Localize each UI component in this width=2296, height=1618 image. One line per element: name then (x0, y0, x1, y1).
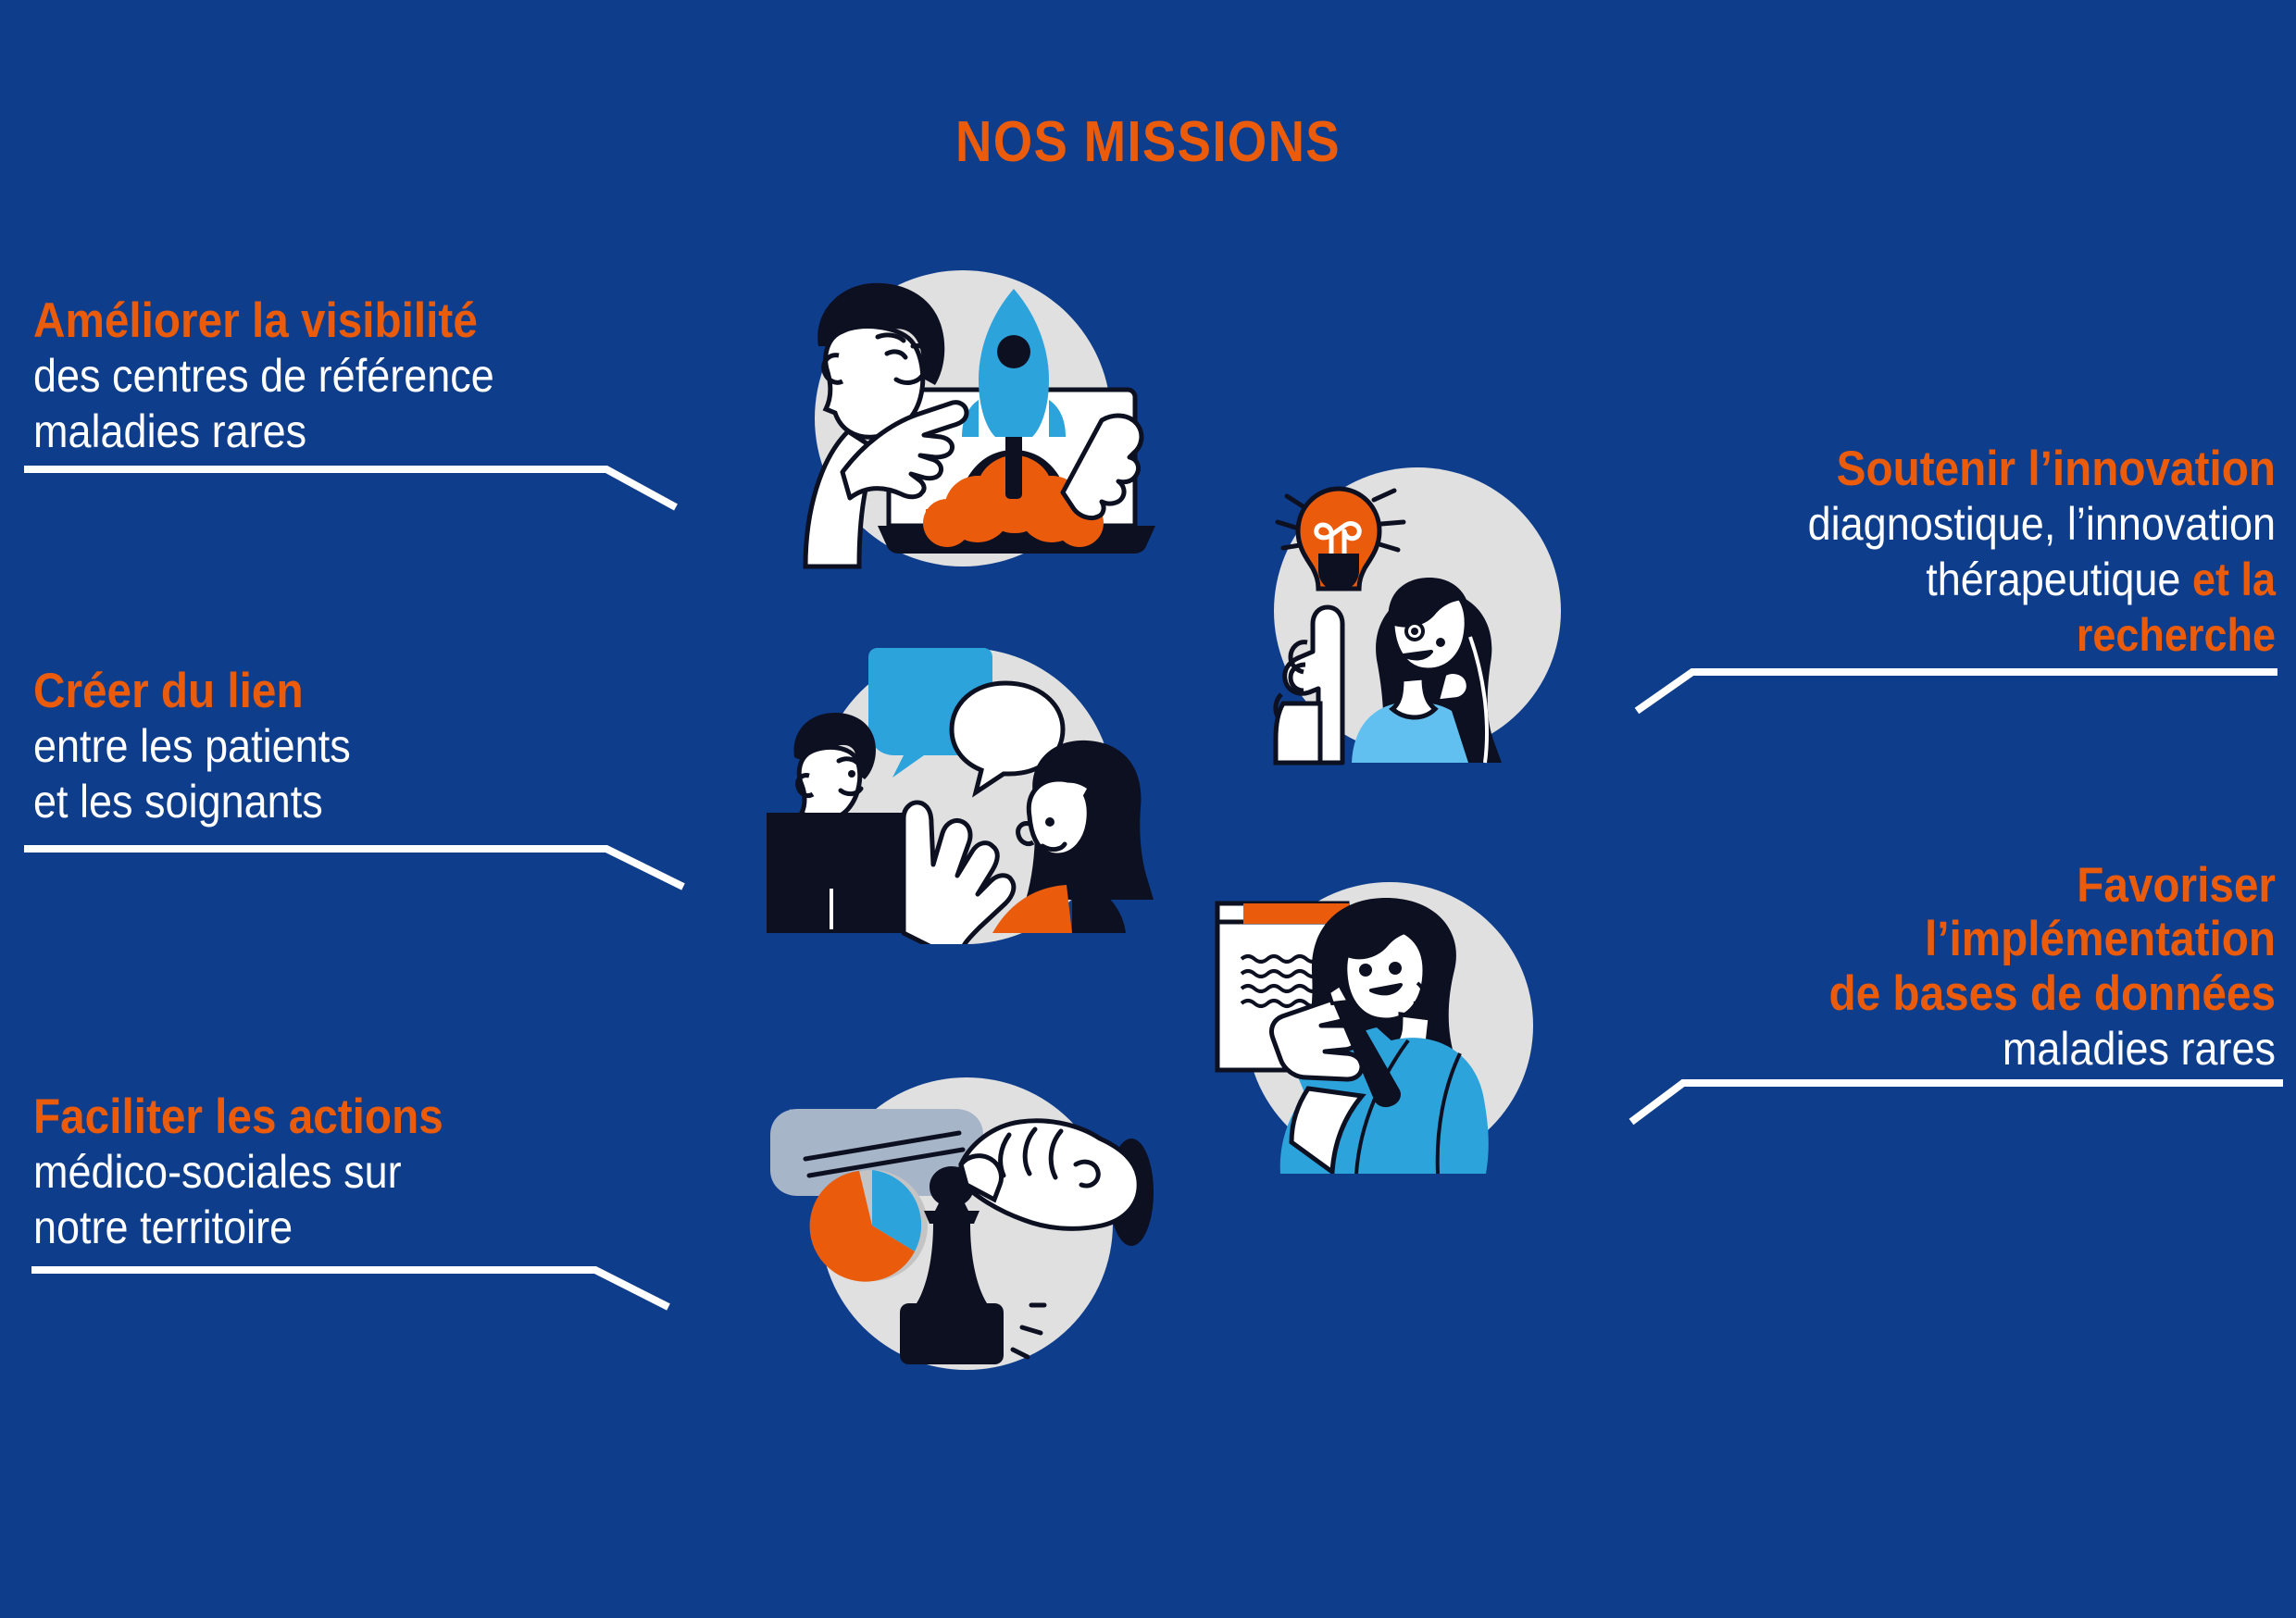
mission-block-visibilite: Améliorer la visibilité des centres de r… (33, 294, 700, 459)
mission-sub2-innovation: thérapeutique et la (1559, 552, 2276, 607)
mission-sub1-actions: médico-sociales sur (33, 1144, 633, 1200)
mission-title-actions: Faciliter les actions (33, 1090, 633, 1144)
mission-sub1-innovation: diagnostique, l’innovation (1559, 496, 2276, 552)
mission-title1-donnees: Favoriser (1542, 859, 2276, 913)
woman-writing-on-notepad-illustration (1190, 859, 1578, 1174)
mission-sub2-lien: et les soignants (33, 774, 633, 829)
connector-actions (31, 1270, 668, 1307)
connector-lien (24, 849, 683, 887)
connector-innovation (1637, 672, 2277, 711)
mission-block-donnees: Favoriser l’implémentation de bases de d… (1461, 859, 2276, 1077)
person-pointing-at-laptop-with-rocket-illustration (757, 261, 1165, 585)
mission-block-actions: Faciliter les actions médico-sociales su… (33, 1090, 700, 1255)
infographic-canvas: NOS MISSIONS Améliorer la visibilité des… (0, 0, 2296, 1618)
woman-pointing-at-lightbulb-illustration (1239, 452, 1563, 771)
mission-sub3-highlight-innovation: recherche (2077, 609, 2276, 661)
mission-sub1-visibilite: des centres de référence (33, 348, 633, 404)
mission-title3-donnees: de bases de données (1542, 967, 2276, 1021)
mission-sub2-highlight-innovation: et la (2192, 554, 2276, 605)
two-people-talking-speech-bubbles-illustration (767, 648, 1165, 944)
mission-title-innovation: Soutenir l’innovation (1559, 442, 2276, 496)
mission-block-innovation: Soutenir l’innovation diagnostique, l’in… (1479, 442, 2276, 663)
mission-sub2-visibilite: maladies rares (33, 404, 633, 459)
mission-title-visibilite: Améliorer la visibilité (33, 294, 633, 348)
page-title: NOS MISSIONS (138, 109, 2158, 175)
mission-sub2-plain-innovation: thérapeutique (1926, 554, 2192, 605)
mission-block-lien: Créer du lien entre les patients et les … (33, 665, 700, 829)
mission-title-lien: Créer du lien (33, 665, 633, 718)
mission-title2-donnees: l’implémentation (1542, 913, 2276, 966)
connector-donnees (1631, 1083, 2283, 1122)
connector-visibilite (24, 469, 676, 507)
mission-sub1-donnees: maladies rares (1542, 1021, 2276, 1077)
mission-sub1-lien: entre les patients (33, 718, 633, 774)
hand-holding-chess-piece-with-pie-chart-illustration (770, 1066, 1168, 1372)
mission-sub3-innovation: recherche (1559, 607, 2276, 663)
mission-sub2-actions: notre territoire (33, 1200, 633, 1255)
